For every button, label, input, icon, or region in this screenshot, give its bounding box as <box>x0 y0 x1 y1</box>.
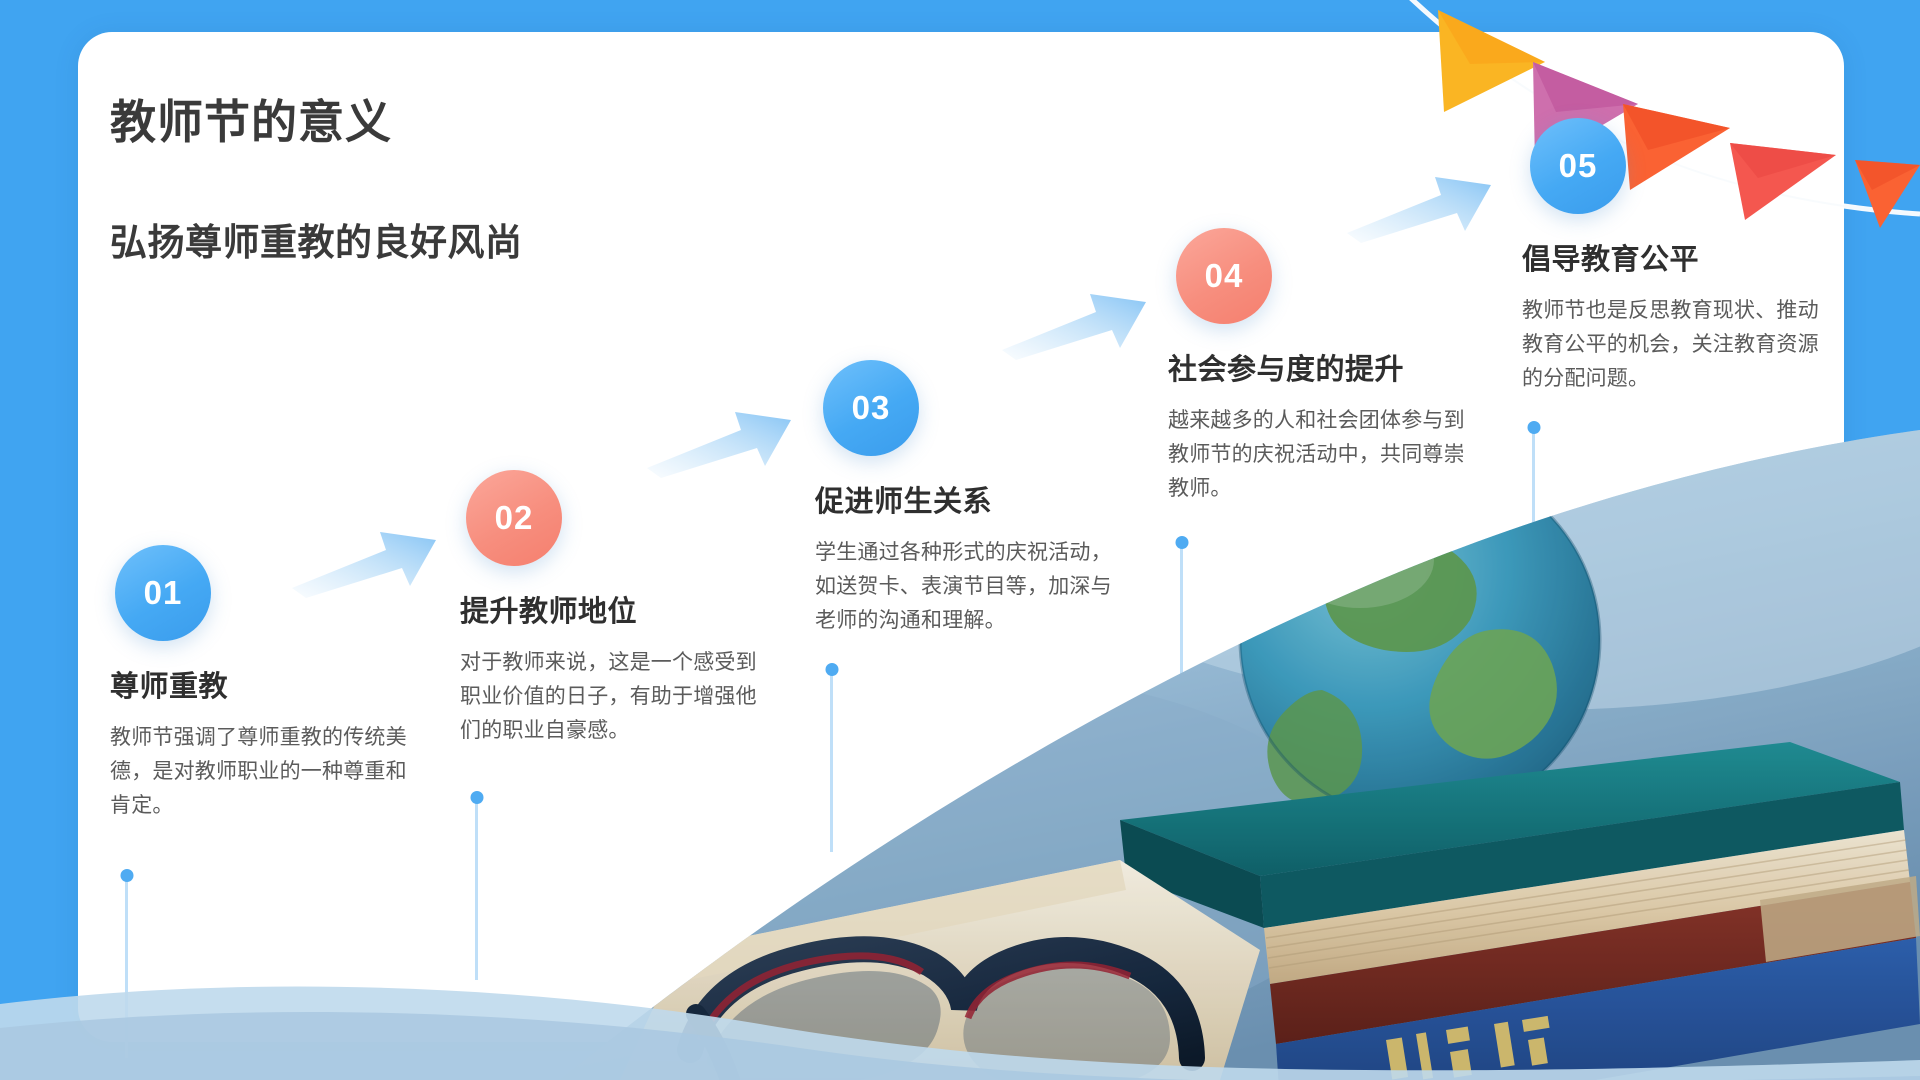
step-description: 对于教师来说，这是一个感受到职业价值的日子，有助于增强他们的职业自豪感。 <box>460 646 775 748</box>
step-title: 提升教师地位 <box>460 588 790 630</box>
step-item-05[interactable]: 05 倡导教育公平 教师节也是反思教育现状、推动教育公平的机会，关注教育资源的分… <box>1522 118 1852 396</box>
step-item-01[interactable]: 01 尊师重教 教师节强调了尊师重教的传统美德，是对教师职业的一种尊重和肯定。 <box>110 545 440 823</box>
step-description: 教师节也是反思教育现状、推动教育公平的机会，关注教育资源的分配问题。 <box>1522 294 1837 396</box>
step-title: 倡导教育公平 <box>1522 236 1852 278</box>
arrow-step3-to-step4 <box>1000 282 1150 362</box>
step-number-badge: 04 <box>1176 228 1272 324</box>
step-item-04[interactable]: 04 社会参与度的提升 越来越多的人和社会团体参与到教师节的庆祝活动中，共同尊崇… <box>1168 228 1498 506</box>
step-description: 学生通过各种形式的庆祝活动，如送贺卡、表演节目等，加深与老师的沟通和理解。 <box>815 536 1130 638</box>
step-number-badge: 01 <box>115 545 211 641</box>
slide-canvas: 教师节的意义 弘扬尊师重教的良好风尚 <box>0 0 1920 1080</box>
connector-stem-step5 <box>1532 430 1535 610</box>
step-description: 越来越多的人和社会团体参与到教师节的庆祝活动中，共同尊崇教师。 <box>1168 404 1483 506</box>
step-title: 尊师重教 <box>110 663 440 705</box>
step-title: 社会参与度的提升 <box>1168 346 1498 388</box>
page-title: 教师节的意义 <box>110 86 392 152</box>
step-number-badge: 02 <box>466 470 562 566</box>
step-number-badge: 03 <box>823 360 919 456</box>
arrow-step2-to-step3 <box>645 400 795 480</box>
flag-orange-icon <box>1855 160 1920 228</box>
page-subtitle: 弘扬尊师重教的良好风尚 <box>110 212 523 266</box>
step-item-03[interactable]: 03 促进师生关系 学生通过各种形式的庆祝活动，如送贺卡、表演节目等，加深与老师… <box>815 360 1145 638</box>
connector-stem-step4 <box>1180 545 1183 725</box>
connector-stem-step1 <box>125 878 128 1058</box>
step-title: 促进师生关系 <box>815 478 1145 520</box>
step-description: 教师节强调了尊师重教的传统美德，是对教师职业的一种尊重和肯定。 <box>110 721 425 823</box>
connector-stem-step3 <box>830 672 833 852</box>
step-number-badge: 05 <box>1530 118 1626 214</box>
step-item-02[interactable]: 02 提升教师地位 对于教师来说，这是一个感受到职业价值的日子，有助于增强他们的… <box>460 470 790 748</box>
connector-stem-step2 <box>475 800 478 980</box>
